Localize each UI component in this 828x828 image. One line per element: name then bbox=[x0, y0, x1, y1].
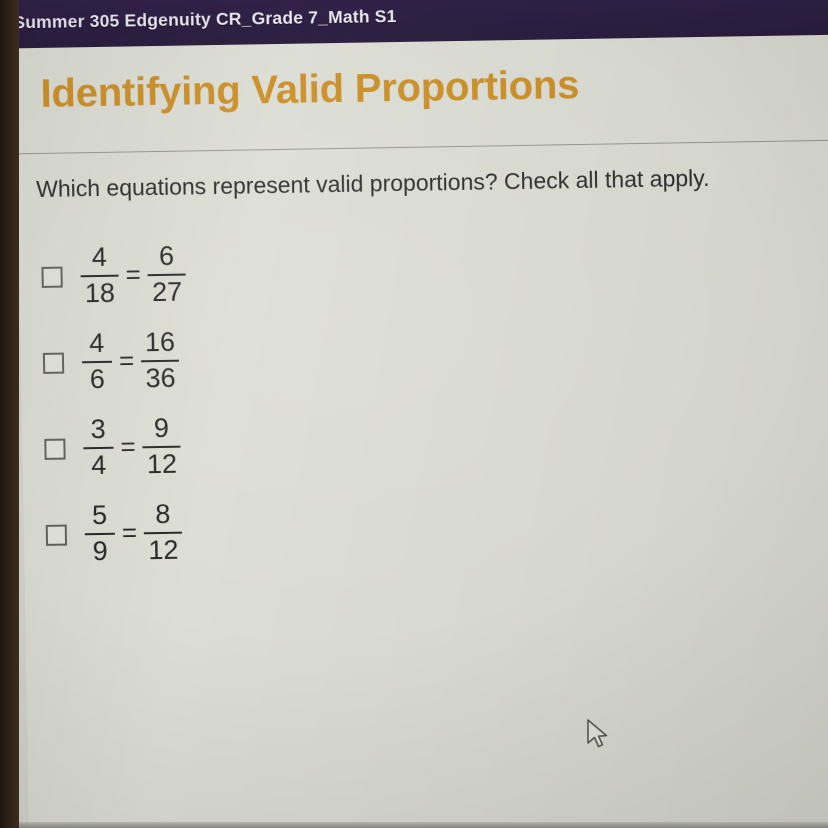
checkbox-option-2[interactable] bbox=[43, 352, 64, 373]
fraction-bar bbox=[83, 447, 113, 450]
equation-option-4: 59=812 bbox=[84, 501, 182, 566]
title-divider bbox=[18, 139, 828, 154]
equation-option-3: 34=912 bbox=[83, 415, 181, 480]
numerator: 5 bbox=[88, 502, 111, 530]
numerator: 3 bbox=[86, 416, 109, 444]
equals-sign: = bbox=[120, 431, 136, 464]
left-fraction: 34 bbox=[83, 416, 114, 480]
screen-bezel-bottom bbox=[0, 822, 828, 828]
checkbox-option-3[interactable] bbox=[44, 438, 65, 459]
fraction-bar bbox=[82, 361, 112, 364]
equation-option-1: 418=627 bbox=[80, 243, 186, 308]
equals-sign: = bbox=[122, 517, 138, 550]
left-fraction: 46 bbox=[82, 330, 113, 394]
page-title: Identifying Valid Proportions bbox=[40, 63, 579, 117]
right-fraction: 912 bbox=[142, 415, 181, 479]
denominator: 18 bbox=[81, 280, 119, 308]
checkbox-option-1[interactable] bbox=[41, 266, 62, 287]
lesson-content-panel: Identifying Valid Proportions Which equa… bbox=[16, 34, 828, 828]
denominator: 4 bbox=[87, 452, 110, 480]
screen-bezel-left bbox=[0, 0, 19, 828]
numerator: 4 bbox=[88, 244, 111, 272]
answer-option-2[interactable]: 46=1636 bbox=[42, 318, 188, 406]
denominator: 6 bbox=[86, 366, 109, 394]
right-fraction: 1636 bbox=[141, 329, 180, 393]
monitor-screen: Summer 305 Edgenuity CR_Grade 7_Math S1 … bbox=[0, 0, 828, 828]
equals-sign: = bbox=[119, 345, 135, 378]
answer-option-1[interactable]: 418=627 bbox=[41, 232, 187, 320]
photo-of-screen: Summer 305 Edgenuity CR_Grade 7_Math S1 … bbox=[0, 0, 828, 828]
denominator: 36 bbox=[141, 365, 179, 393]
answer-option-3[interactable]: 34=912 bbox=[44, 404, 190, 492]
numerator: 9 bbox=[150, 415, 173, 443]
numerator: 16 bbox=[141, 329, 179, 357]
numerator: 8 bbox=[151, 501, 174, 529]
equals-sign: = bbox=[125, 259, 141, 292]
checkbox-option-4[interactable] bbox=[46, 524, 67, 545]
denominator: 12 bbox=[143, 451, 181, 479]
equation-option-2: 46=1636 bbox=[82, 329, 180, 394]
numerator: 4 bbox=[85, 330, 108, 358]
fraction-bar bbox=[85, 533, 115, 536]
right-fraction: 627 bbox=[147, 243, 186, 307]
right-fraction: 812 bbox=[144, 501, 183, 565]
denominator: 27 bbox=[148, 279, 186, 307]
answer-options-list: 418=62746=163634=91259=812 bbox=[41, 232, 191, 578]
question-prompt: Which equations represent valid proporti… bbox=[36, 165, 710, 203]
denominator: 12 bbox=[144, 537, 182, 565]
left-fraction: 418 bbox=[80, 244, 119, 308]
left-fraction: 59 bbox=[84, 502, 115, 566]
answer-option-4[interactable]: 59=812 bbox=[45, 490, 191, 578]
denominator: 9 bbox=[88, 538, 111, 566]
numerator: 6 bbox=[155, 243, 178, 271]
course-title: Summer 305 Edgenuity CR_Grade 7_Math S1 bbox=[13, 6, 397, 33]
